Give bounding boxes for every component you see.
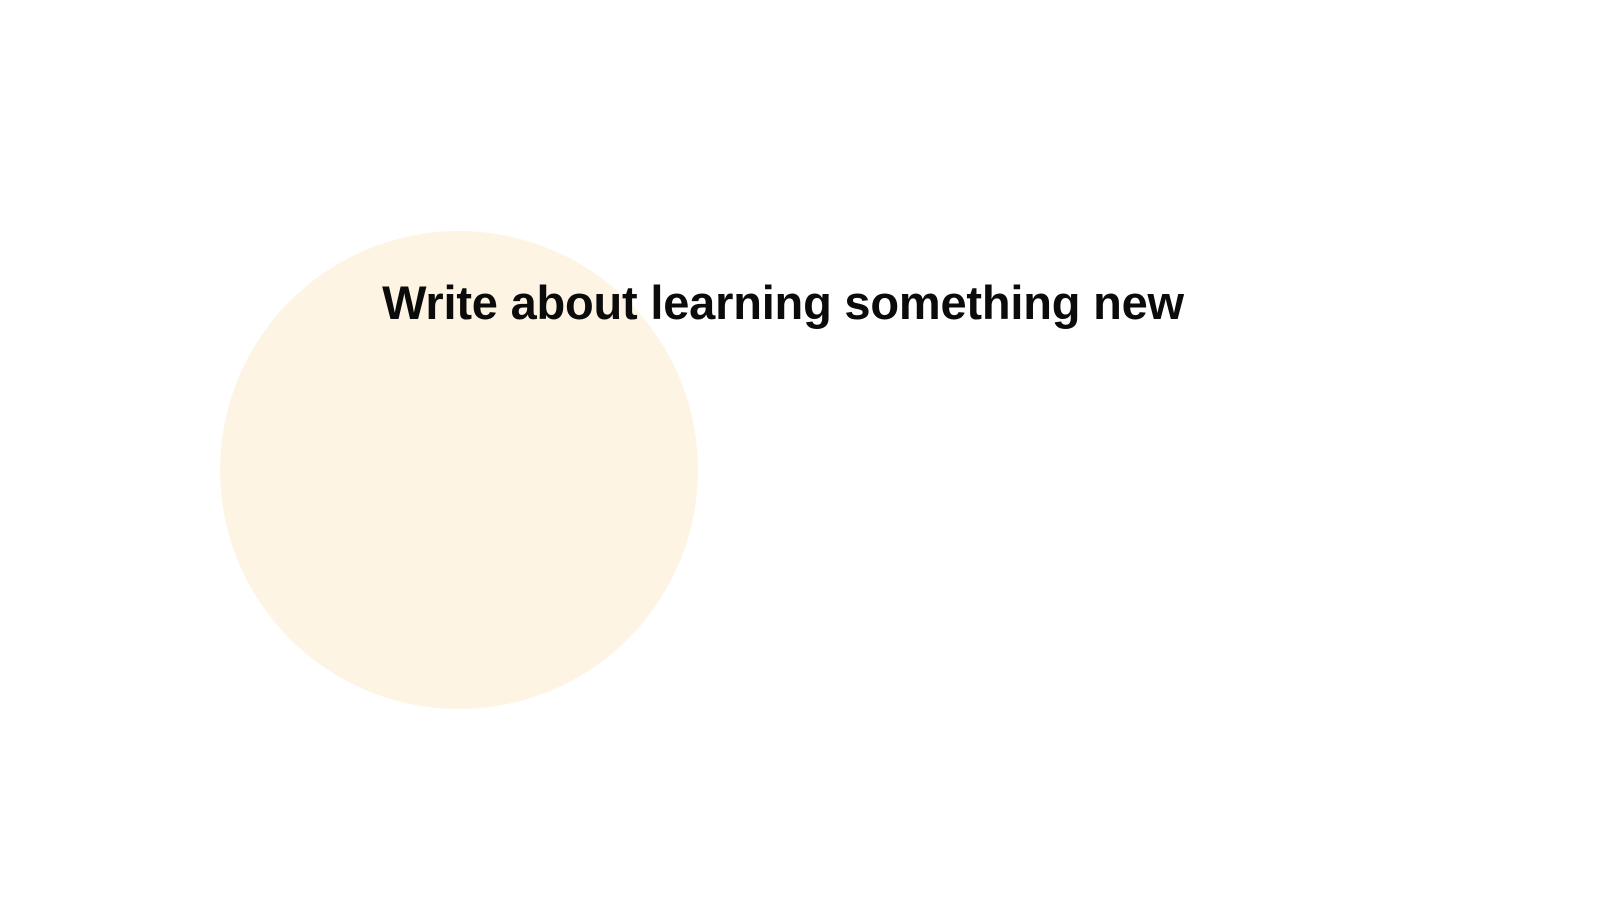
prompt-heading: Write about learning something new [0,272,1566,334]
prompt-canvas: Write about learning something new [0,0,1600,900]
